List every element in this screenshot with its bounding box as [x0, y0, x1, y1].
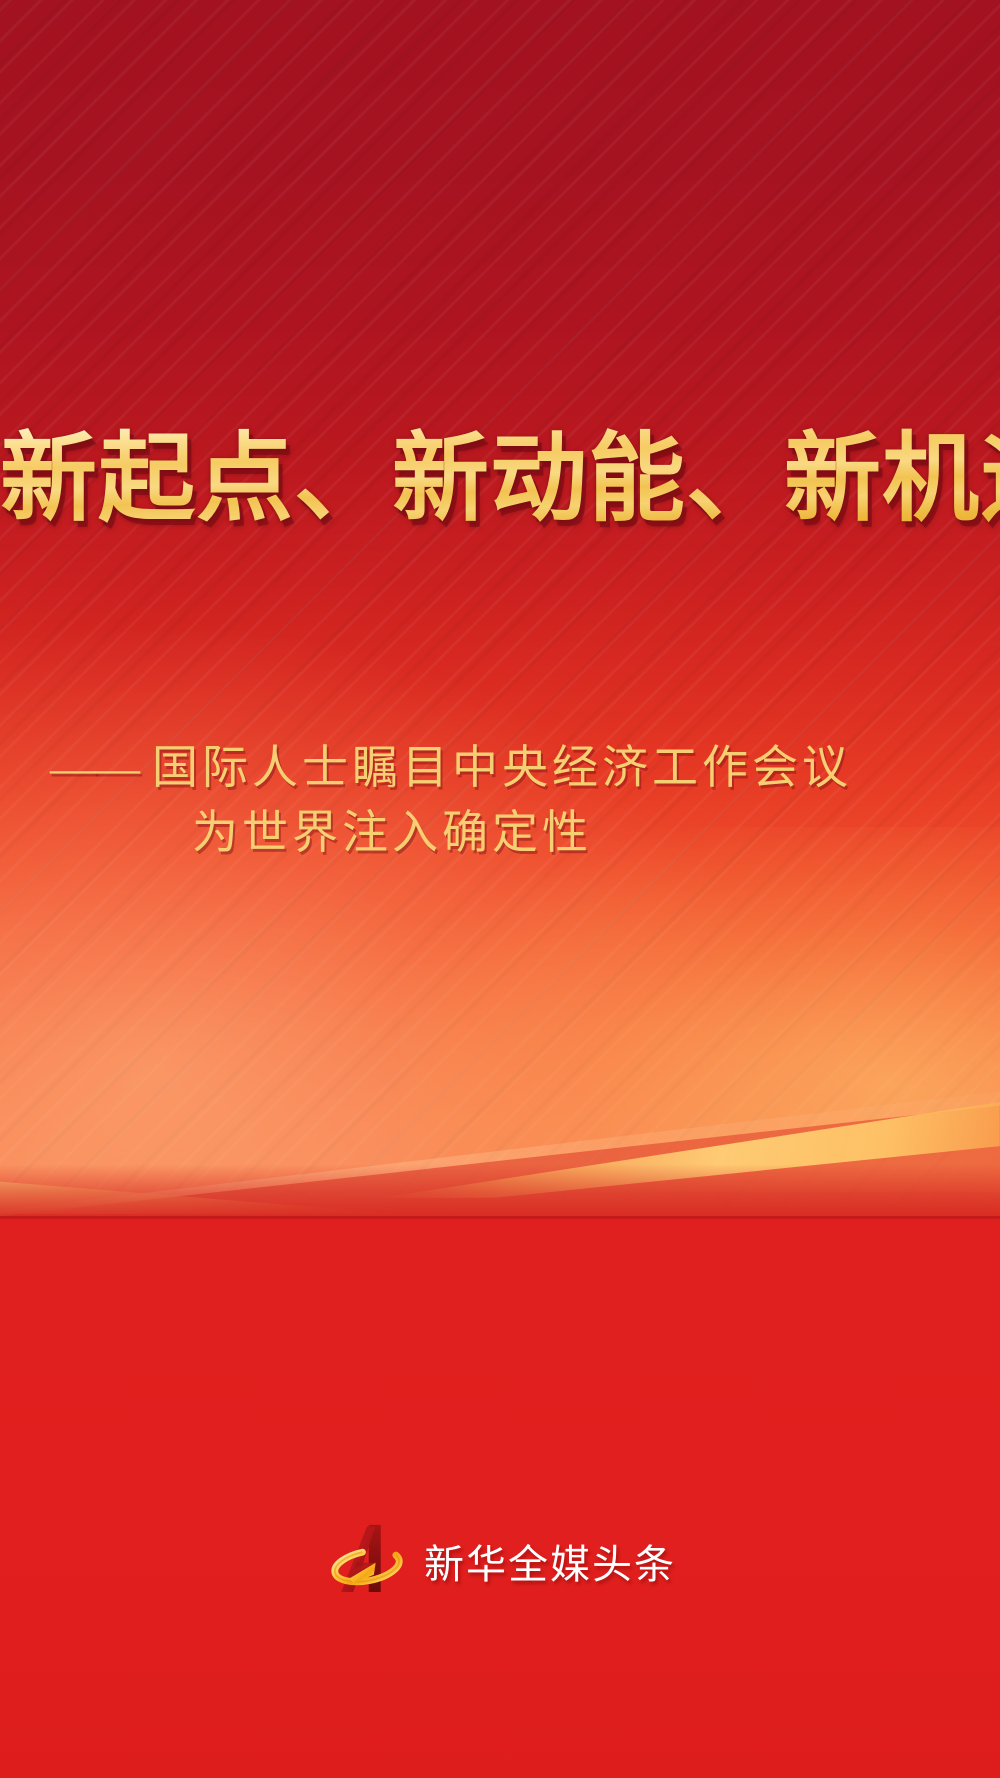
subtitle-line-1-text: 国际人士瞩目中央经济工作会议: [152, 742, 852, 793]
brand-name-label: 新华全媒头条: [424, 1532, 676, 1590]
subtitle-line-2: 为世界注入确定性: [28, 800, 972, 865]
page-title: 新起点、新动能、新机遇: [0, 428, 1000, 533]
subtitle-line-1: ——国际人士瞩目中央经济工作会议: [28, 735, 972, 800]
hero-art-area: [0, 0, 1000, 1216]
footer-band: 新华全媒头条: [0, 1216, 1000, 1778]
xinhua-quanmei-logo-icon: [324, 1518, 410, 1604]
subtitle-block: ——国际人士瞩目中央经济工作会议 为世界注入确定性: [0, 735, 1000, 866]
title-block: 新起点、新动能、新机遇: [0, 428, 1000, 533]
brand-lockup: 新华全媒头条: [0, 1518, 1000, 1604]
poster-root: 新起点、新动能、新机遇 ——国际人士瞩目中央经济工作会议 为世界注入确定性: [0, 0, 1000, 1778]
footer-divider: [0, 1216, 1000, 1219]
em-dash-mark: ——: [50, 742, 138, 793]
background-gradient: [0, 0, 1000, 1216]
